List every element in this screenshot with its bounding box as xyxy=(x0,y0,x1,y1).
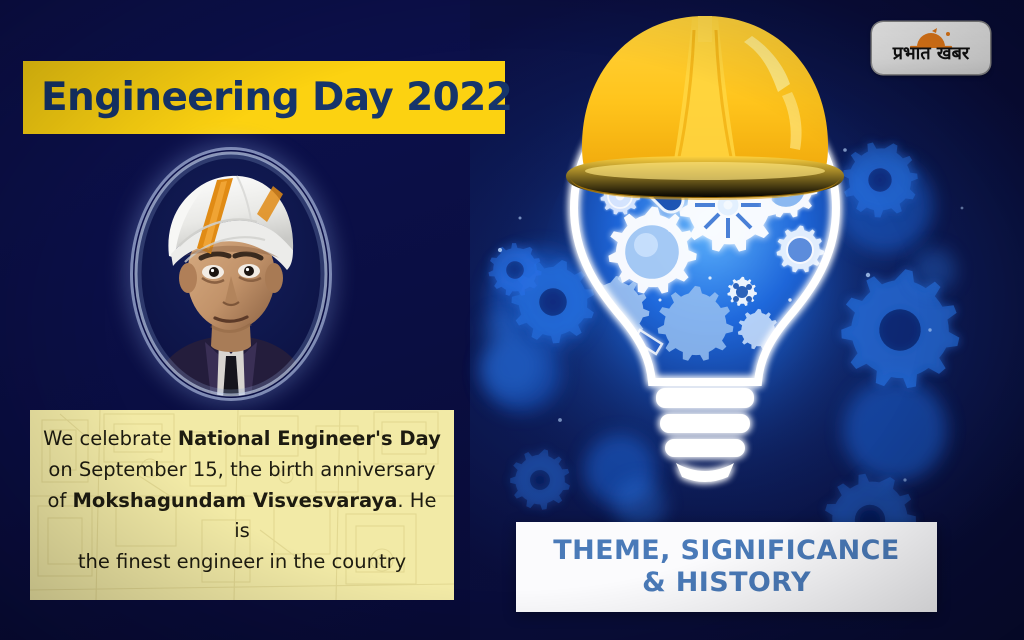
caption-line-4: the finest engineer in the country xyxy=(40,547,444,578)
visvesvaraya-portrait xyxy=(133,150,329,398)
sub-banner: THEME, SIGNIFICANCE & HISTORY xyxy=(516,522,937,612)
caption-box: We celebrate National Engineer's Day on … xyxy=(30,410,454,600)
prabhat-khabar-logo[interactable]: प्रभात खबर xyxy=(872,22,990,74)
caption-line-1: We celebrate National Engineer's Day xyxy=(40,424,444,455)
poster-canvas: Engineering Day 2022 xyxy=(0,0,1024,640)
caption-text: We celebrate National Engineer's Day on … xyxy=(40,424,444,578)
caption-line-2: on September 15, the birth anniversary xyxy=(40,455,444,486)
sub-banner-line-2: & HISTORY xyxy=(642,567,811,599)
portrait-oval-frame xyxy=(133,150,329,398)
sub-banner-line-1: THEME, SIGNIFICANCE xyxy=(553,535,899,567)
page-title: Engineering Day 2022 xyxy=(41,75,512,120)
title-banner: Engineering Day 2022 xyxy=(23,61,505,134)
caption-line-3: of Mokshagundam Visvesvaraya. He is xyxy=(40,486,444,548)
logo-text: प्रभात खबर xyxy=(893,45,969,74)
hard-hat-lightbulb-graphic xyxy=(470,0,940,520)
